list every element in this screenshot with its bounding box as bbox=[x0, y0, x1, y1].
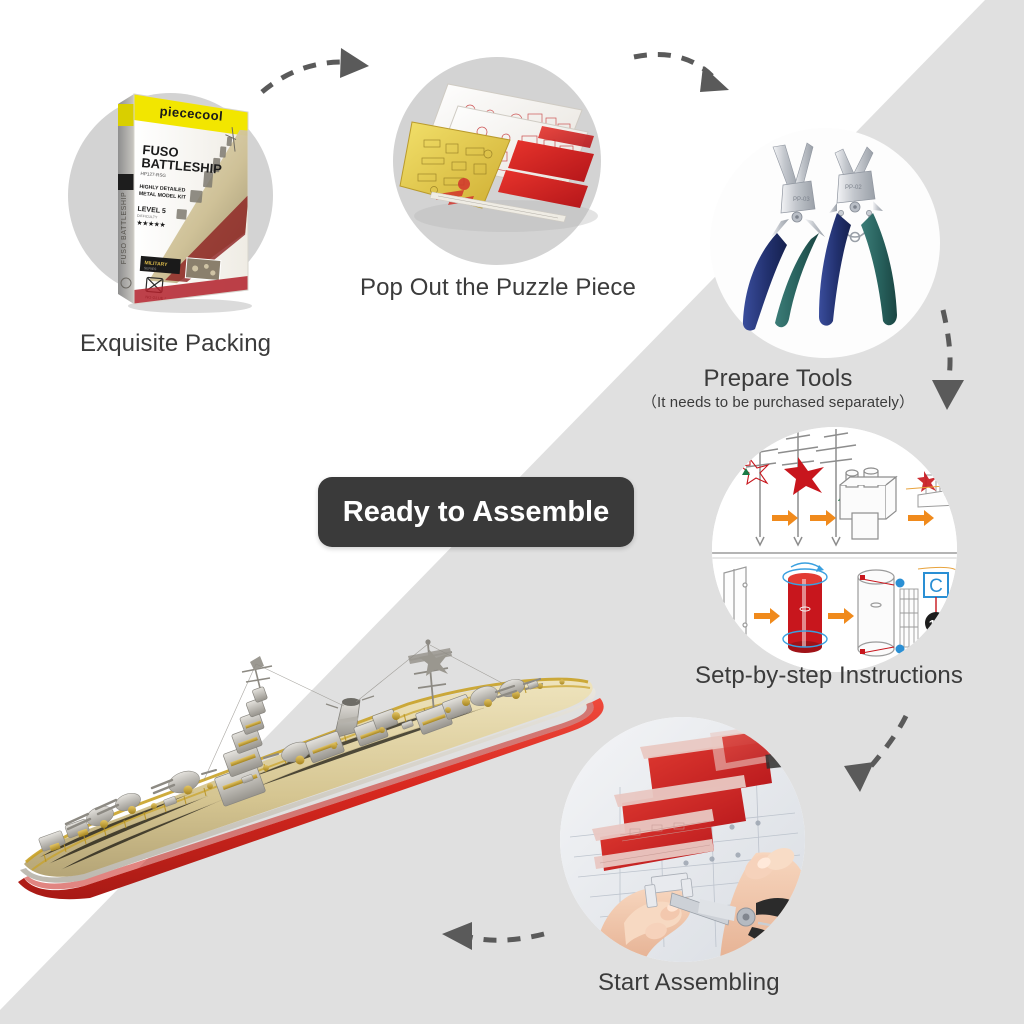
svg-text:FUSO BATTLESHIP: FUSO BATTLESHIP bbox=[121, 192, 128, 265]
assembled-battleship-model bbox=[4, 630, 624, 930]
product-box: FUSO BATTLESHIP piececool bbox=[98, 78, 288, 313]
svg-text:PP-02: PP-02 bbox=[845, 185, 862, 191]
step-label-packing: Exquisite Packing bbox=[80, 330, 271, 358]
side-cutter-pliers: PP-02 bbox=[819, 147, 897, 326]
instruction-diagram: C 19 bbox=[712, 427, 957, 672]
step-label-tools: Prepare Tools （It needs to be purchased … bbox=[622, 365, 934, 412]
ready-to-assemble-label: Ready to Assemble bbox=[343, 496, 609, 529]
part-label-c: C bbox=[929, 576, 943, 597]
step-sublabel-tools: （It needs to be purchased separately） bbox=[622, 391, 934, 412]
step-label-instructions: Setp-by-step Instructions bbox=[695, 662, 963, 690]
infographic-canvas: FUSO BATTLESHIP piececool bbox=[0, 0, 1024, 1024]
svg-text:PP-03: PP-03 bbox=[793, 197, 810, 203]
step-label-assembling: Start Assembling bbox=[598, 969, 780, 997]
step-label-pop-out: Pop Out the Puzzle Piece bbox=[360, 274, 636, 302]
needle-nose-pliers: PP-03 bbox=[743, 143, 825, 331]
ready-to-assemble-badge[interactable]: Ready to Assemble bbox=[318, 477, 634, 547]
pliers-tools: PP-03 PP-02 bbox=[715, 133, 935, 353]
circle-instructions: C 19 bbox=[712, 427, 957, 672]
metal-etch-sheets bbox=[398, 66, 608, 251]
